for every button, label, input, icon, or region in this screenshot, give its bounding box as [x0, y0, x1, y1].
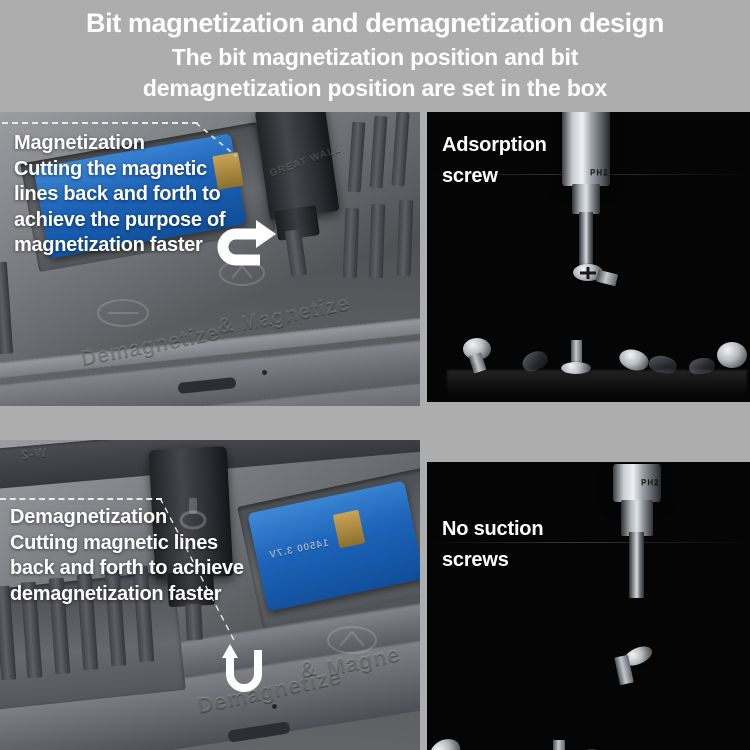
spare-bit	[369, 204, 386, 278]
driver-chuck	[562, 112, 610, 186]
loose-screw	[576, 745, 615, 750]
page-title: Bit magnetization and demagnetization de…	[0, 8, 750, 40]
driver-bit-tip	[629, 532, 644, 598]
demagnetization-body-line2: back and forth to achieve	[10, 556, 272, 581]
no-suction-label-line1: No suction	[442, 514, 543, 545]
adsorption-screw-label: Adsorption screw	[442, 130, 547, 192]
no-suction-label-line2: screws	[442, 545, 543, 576]
adsorption-label-line1: Adsorption	[442, 130, 547, 161]
demagnetization-body-line3: demagnetization faster	[10, 582, 272, 607]
driver-chuck-mid	[572, 184, 600, 214]
callout-dashed-line	[0, 498, 162, 500]
adsorbed-screw-shank	[596, 270, 618, 286]
page-subtitle-line2: demagnetization position are set in the …	[115, 74, 635, 102]
panel-magnetization: GREAT WALL Demagnetize & Magnetize	[0, 112, 420, 406]
magnetization-heading: Magnetization	[14, 132, 264, 155]
no-suction-screws-label: No suction screws	[442, 514, 543, 576]
clockwise-loop-arrow-icon	[210, 220, 276, 278]
page-subtitle-line1: The bit magnetization position and bit	[115, 43, 635, 71]
demagnetization-heading: Demagnetization	[10, 506, 272, 529]
driver-chuck-mid	[621, 500, 653, 536]
screwdriver-body	[255, 112, 340, 220]
driver-bit-tip	[579, 212, 593, 266]
magnetization-body-line1: Cutting the magnetic	[14, 157, 264, 182]
panel-adsorption-screw: PH2 Adsorption screw	[427, 112, 750, 402]
demagnetize-symbol-icon	[96, 297, 150, 329]
header-banner: Bit magnetization and demagnetization de…	[0, 0, 750, 112]
magnetize-symbol-icon	[326, 624, 378, 656]
surface-reflection	[447, 370, 747, 396]
driver-chuck	[613, 464, 661, 502]
loose-screw	[717, 342, 747, 368]
infographic-page: Bit magnetization and demagnetization de…	[0, 0, 750, 750]
phillips-cross-icon	[577, 266, 599, 280]
loose-screw-shank	[553, 740, 565, 750]
demagnetization-callout: Demagnetization Cutting magnetic lines b…	[10, 506, 272, 607]
magnetization-body-line2: lines back and forth to	[14, 182, 264, 207]
spare-bit	[397, 200, 414, 276]
panel-no-suction-screws: PH2 No suction screws	[427, 462, 750, 750]
demagnetization-body-line1: Cutting magnetic lines	[10, 531, 272, 556]
adsorption-label-line2: screw	[442, 161, 547, 192]
panel-demagnetization: 14500 3.7V Demagnetize & Magne W-2 Demag…	[0, 440, 420, 750]
loose-screw	[427, 734, 465, 750]
spare-bit	[343, 208, 359, 278]
u-turn-arrow-icon	[222, 644, 266, 696]
callout-dashed-line	[2, 122, 198, 124]
